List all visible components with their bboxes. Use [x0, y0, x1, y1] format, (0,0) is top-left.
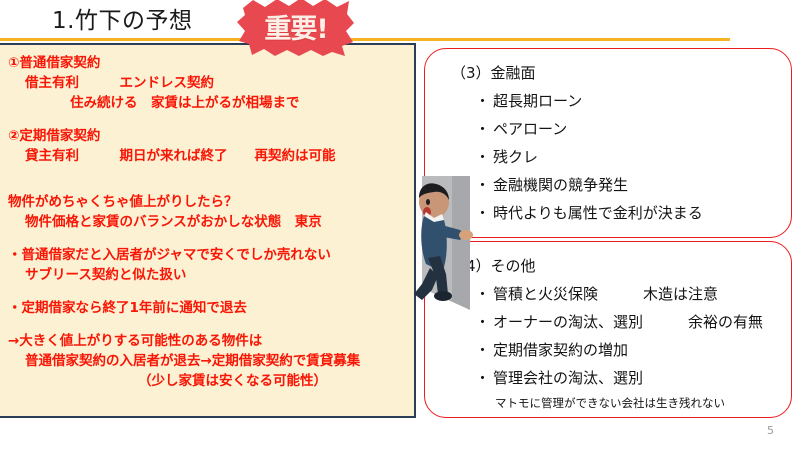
- other-box-item: ・管積と火災保険 木造は注意: [451, 280, 783, 308]
- finance-box-item: ・金融機関の競争発生: [451, 171, 783, 199]
- left-panel-line: ・定期借家なら終了1年前に通知で退去: [8, 298, 410, 318]
- finance-box-item-label: 金融機関の競争発生: [493, 176, 628, 194]
- left-panel-line: 物件価格と家賃のバランスがおかしな状態 東京: [8, 212, 410, 232]
- other-box-subnote: マトモに管理ができない会社は生き残れない: [451, 392, 783, 414]
- important-badge: 重要!: [237, 0, 355, 56]
- left-panel-line: （少し家賃は安くなる可能性）: [8, 371, 410, 391]
- other-box: （4）その他 ・管積と火災保険 木造は注意・オーナーの淘汰、選別 余裕の有無・定…: [424, 241, 792, 418]
- finance-box-item-label: 時代よりも属性で金利が決まる: [493, 204, 703, 222]
- bullet-icon: ・: [475, 148, 490, 166]
- bullet-icon: ・: [475, 120, 490, 138]
- left-panel-line: 住み続ける 家賃は上がるが相場まで: [8, 93, 410, 113]
- other-box-item: ・管理会社の淘汰、選別: [451, 364, 783, 392]
- left-panel-line: ・普通借家だと入居者がジャマで安くでしか売れない: [8, 245, 410, 265]
- finance-box-item: ・時代よりも属性で金利が決まる: [451, 199, 783, 227]
- eye: [426, 199, 430, 205]
- finance-box-item: ・残クレ: [451, 143, 783, 171]
- left-panel-spacer: [8, 318, 410, 331]
- bullet-icon: ・: [475, 369, 490, 387]
- left-panel-line: サブリース契約と似た扱い: [8, 265, 410, 285]
- finance-box-item: ・ペアローン: [451, 115, 783, 143]
- other-box-item-label: 定期借家契約の増加: [493, 341, 628, 359]
- other-box-item: ・定期借家契約の増加: [451, 336, 783, 364]
- left-panel-line: 借主有利 エンドレス契約: [8, 73, 410, 93]
- finance-box-item-label: 超長期ローン: [493, 92, 582, 110]
- finance-box-items: ・超長期ローン・ペアローン・残クレ・金融機関の競争発生・時代よりも属性で金利が決…: [451, 87, 783, 227]
- bullet-icon: ・: [475, 92, 490, 110]
- finance-box-item-label: 残クレ: [493, 148, 538, 166]
- left-panel-line: →大きく値上がりする可能性のある物件は: [8, 331, 410, 351]
- left-panel-line: 貸主有利 期日が来れば終了 再契約は可能: [8, 146, 410, 166]
- page-number: 5: [767, 424, 774, 437]
- finance-box-heading: （3）金融面: [451, 59, 783, 87]
- other-box-item-label: 管積と火災保険 木造は注意: [493, 285, 718, 303]
- left-panel-spacer: [8, 232, 410, 245]
- bullet-icon: ・: [475, 313, 490, 331]
- left-panel-spacer: [8, 285, 410, 298]
- left-content-panel: ①普通借家契約借主有利 エンドレス契約住み続ける 家賃は上がるが相場まで②定期借…: [0, 43, 416, 418]
- slide-canvas: 1.竹下の予想 重要! ①普通借家契約借主有利 エンドレス契約住み続ける 家賃は…: [0, 0, 800, 450]
- other-box-item: ・オーナーの淘汰、選別 余裕の有無: [451, 308, 783, 336]
- other-box-heading: （4）その他: [451, 252, 783, 280]
- left-panel-line: ②定期借家契約: [8, 126, 410, 146]
- finance-box: （3）金融面 ・超長期ローン・ペアローン・残クレ・金融機関の競争発生・時代よりも…: [424, 48, 792, 238]
- left-panel-spacer: [8, 113, 410, 126]
- other-box-item-label: 管理会社の淘汰、選別: [493, 369, 643, 387]
- left-panel-spacer: [8, 179, 410, 192]
- title-underline-divider: [0, 38, 730, 41]
- finance-box-item: ・超長期ローン: [451, 87, 783, 115]
- other-box-items: ・管積と火災保険 木造は注意・オーナーの淘汰、選別 余裕の有無・定期借家契約の増…: [451, 280, 783, 414]
- shoe-front: [434, 291, 452, 301]
- other-box-content: （4）その他 ・管積と火災保険 木造は注意・オーナーの淘汰、選別 余裕の有無・定…: [451, 252, 783, 414]
- left-panel-spacer: [8, 166, 410, 179]
- bullet-icon: ・: [475, 341, 490, 359]
- left-panel-line: ①普通借家契約: [8, 53, 410, 73]
- important-badge-label: 重要!: [237, 0, 355, 56]
- other-box-item-label: オーナーの淘汰、選別 余裕の有無: [493, 313, 763, 331]
- left-panel-text: ①普通借家契約借主有利 エンドレス契約住み続ける 家賃は上がるが相場まで②定期借…: [8, 53, 410, 391]
- finance-box-item-label: ペアローン: [493, 120, 567, 138]
- hand: [459, 230, 473, 240]
- left-panel-line: 普通借家契約の入居者が退去→定期借家契約で賃貸募集: [8, 351, 410, 371]
- finance-box-content: （3）金融面 ・超長期ローン・ペアローン・残クレ・金融機関の競争発生・時代よりも…: [451, 59, 783, 227]
- illustration-svg: [408, 176, 478, 314]
- left-panel-line: 物件がめちゃくちゃ値上がりしたら？: [8, 192, 410, 212]
- person-pushing-wall-illustration: [408, 176, 478, 314]
